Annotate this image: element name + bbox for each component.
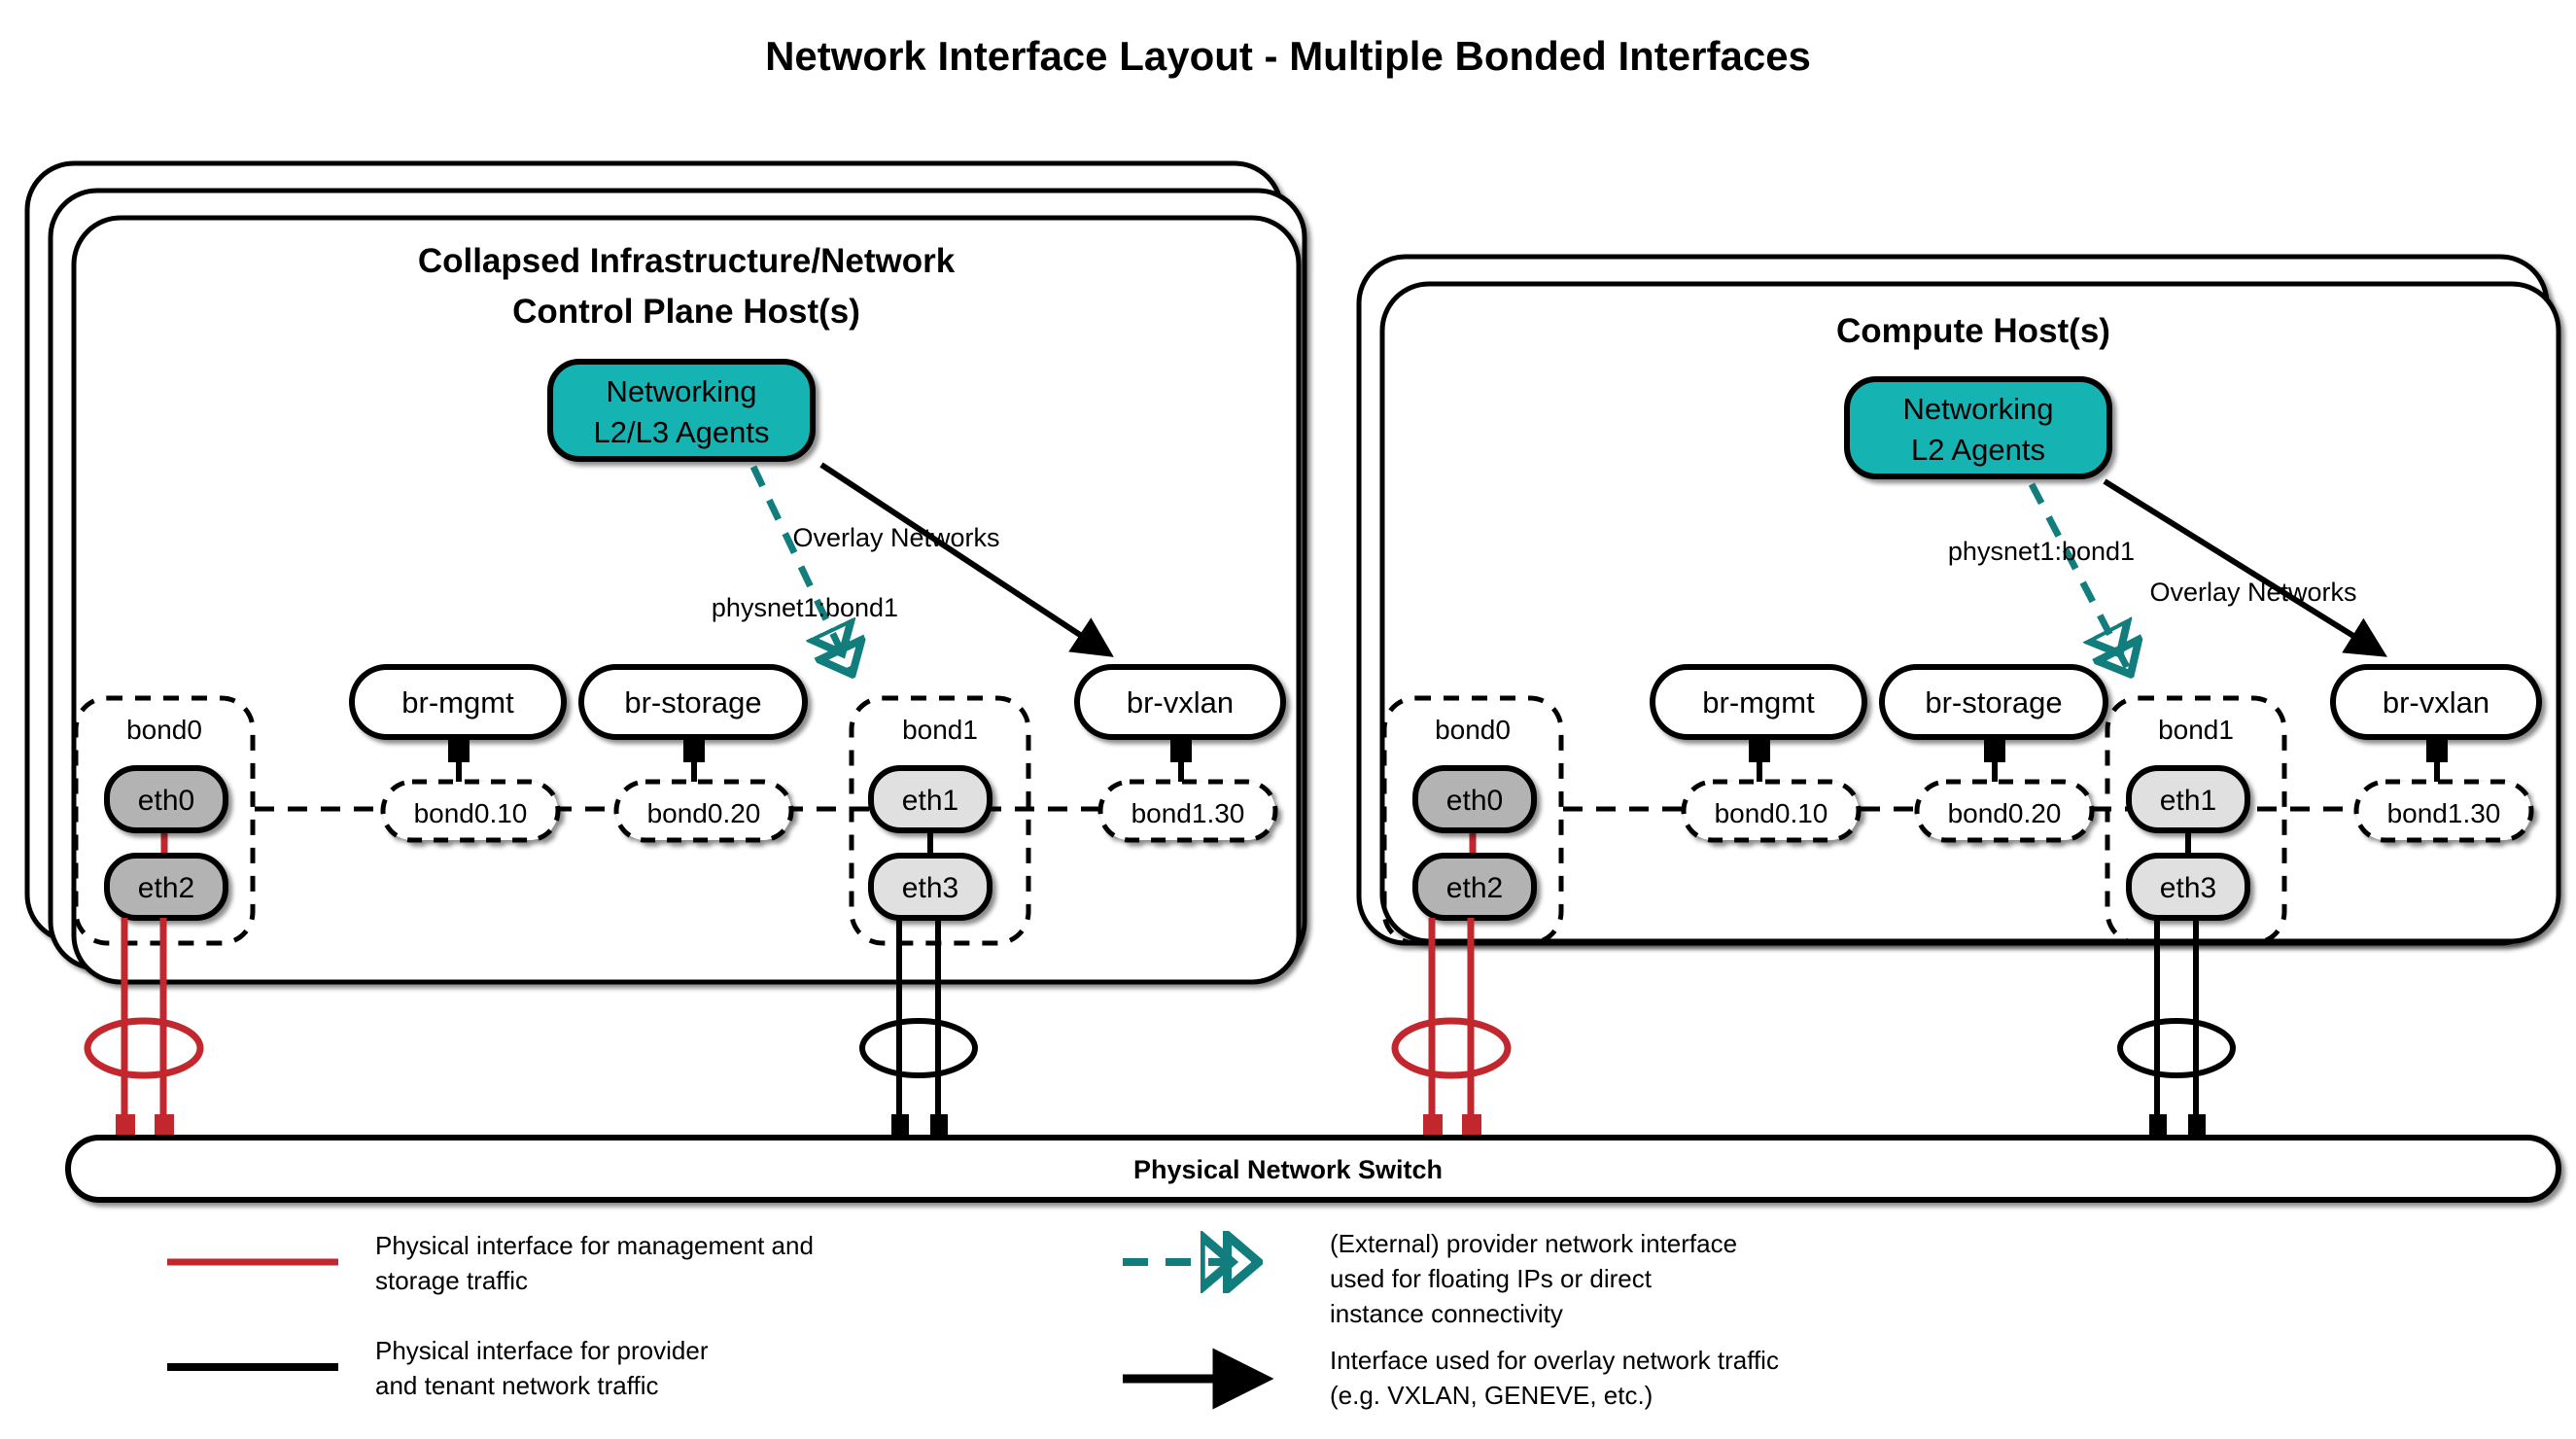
diagram-root: Network Interface Layout - Multiple Bond… — [0, 0, 2576, 1439]
compute-bond0-20-label: bond0.20 — [1948, 798, 2062, 828]
br-vxlan-label: br-vxlan — [1127, 685, 1234, 719]
compute-physnet-edge-label: physnet1:bond1 — [1948, 537, 2135, 566]
legend-text-line: (e.g. VXLAN, GENEVE, etc.) — [1330, 1381, 1653, 1410]
networking-agents-node[interactable]: Networking L2/L3 Agents — [550, 362, 813, 459]
compute-vlan-bond0-20[interactable]: bond0.20 — [1917, 782, 2092, 840]
compute-bond1-label: bond1 — [2158, 715, 2234, 745]
vlan-bond1-30[interactable]: bond1.30 — [1100, 782, 1275, 840]
eth2-label: eth2 — [138, 872, 194, 904]
host-title-line1: Collapsed Infrastructure/Network — [418, 242, 956, 280]
legend-text-line: instance connectivity — [1330, 1299, 1563, 1328]
agents-label-line2: L2/L3 Agents — [594, 415, 770, 449]
bond0-label: bond0 — [126, 715, 202, 745]
compute-networking-agents-node[interactable]: Networking L2 Agents — [1847, 379, 2109, 476]
legend-text-line: Interface used for overlay network traff… — [1330, 1346, 1779, 1375]
host-panel-compute: Compute Host(s) Networking L2 Agents phy… — [1359, 257, 2559, 1143]
compute-br-storage-port — [1984, 737, 2005, 762]
compute-overlay-edge-label: Overlay Networks — [2149, 578, 2356, 607]
physnet-edge-label: physnet1:bond1 — [712, 593, 898, 622]
compute-br-mgmt-port — [1749, 737, 1770, 762]
compute-title-line1: Compute Host(s) — [1836, 312, 2110, 350]
compute-cable-bundle-marker-red — [1395, 1021, 1508, 1075]
cable-bundle-marker-black — [862, 1021, 975, 1075]
legend-item-external-provider: (External) provider network interface us… — [1123, 1229, 1737, 1328]
compute-cables-bond0-red — [1395, 918, 1508, 1143]
bond1-30-label: bond1.30 — [1131, 798, 1245, 828]
compute-cables-bond1-black — [2120, 918, 2233, 1143]
compute-cable-bundle-marker-black — [2120, 1021, 2233, 1075]
legend-item-management-storage: Physical interface for management and st… — [167, 1231, 814, 1295]
compute-eth1-label: eth1 — [2160, 785, 2216, 817]
compute-agents-label-line1: Networking — [1902, 392, 2053, 426]
legend-text-line: storage traffic — [375, 1266, 528, 1295]
br-mgmt-port — [448, 737, 470, 762]
compute-eth0-label: eth0 — [1446, 785, 1503, 817]
legend-text-line: and tenant network traffic — [375, 1371, 658, 1400]
br-storage-label: br-storage — [624, 685, 761, 719]
legend-item-provider-tenant: Physical interface for provider and tena… — [167, 1336, 709, 1400]
br-vxlan-port — [1170, 737, 1192, 762]
compute-vlan-bond0-10[interactable]: bond0.10 — [1684, 782, 1859, 840]
compute-br-storage-label: br-storage — [1925, 685, 2062, 719]
compute-br-mgmt-label: br-mgmt — [1702, 685, 1815, 719]
compute-bond1-30-label: bond1.30 — [2387, 798, 2501, 828]
legend-text-line: (External) provider network interface — [1330, 1229, 1737, 1258]
host-title-line2: Control Plane Host(s) — [512, 293, 860, 331]
eth1-label: eth1 — [902, 785, 958, 817]
legend-text-line: used for floating IPs or direct — [1330, 1264, 1653, 1293]
compute-vlan-bond1-30[interactable]: bond1.30 — [2356, 782, 2531, 840]
eth0-label: eth0 — [138, 785, 194, 817]
br-mgmt-label: br-mgmt — [401, 685, 514, 719]
host-panel-front — [74, 218, 1299, 982]
page-title: Network Interface Layout - Multiple Bond… — [765, 33, 1811, 79]
switch-label: Physical Network Switch — [1133, 1155, 1443, 1184]
host-panel-control-plane: Collapsed Infrastructure/Network Control… — [27, 163, 1305, 1143]
legend: Physical interface for management and st… — [167, 1229, 1779, 1410]
compute-eth3-label: eth3 — [2160, 872, 2216, 904]
vlan-bond0-10[interactable]: bond0.10 — [383, 782, 558, 840]
vlan-bond0-20[interactable]: bond0.20 — [616, 782, 791, 840]
compute-bond0-10-label: bond0.10 — [1715, 798, 1828, 828]
compute-eth2-label: eth2 — [1446, 872, 1503, 904]
bond0-10-label: bond0.10 — [414, 798, 528, 828]
br-storage-port — [683, 737, 705, 762]
compute-br-vxlan-port — [2426, 737, 2448, 762]
compute-br-vxlan-label: br-vxlan — [2383, 685, 2489, 719]
compute-agents-label-line2: L2 Agents — [1911, 433, 2045, 467]
network-diagram-canvas: Network Interface Layout - Multiple Bond… — [0, 0, 2576, 1439]
cable-bundle-marker-red — [87, 1021, 200, 1075]
bond0-20-label: bond0.20 — [647, 798, 761, 828]
overlay-edge-label: Overlay Networks — [792, 523, 999, 552]
compute-bond0-label: bond0 — [1435, 715, 1511, 745]
bond1-label: bond1 — [902, 715, 978, 745]
legend-text-line: Physical interface for management and — [375, 1231, 814, 1260]
legend-item-overlay-traffic: Interface used for overlay network traff… — [1123, 1346, 1779, 1410]
physical-network-switch[interactable]: Physical Network Switch — [68, 1138, 2559, 1200]
legend-text-line: Physical interface for provider — [375, 1336, 709, 1365]
eth3-label: eth3 — [902, 872, 958, 904]
agents-label-line1: Networking — [606, 374, 756, 408]
